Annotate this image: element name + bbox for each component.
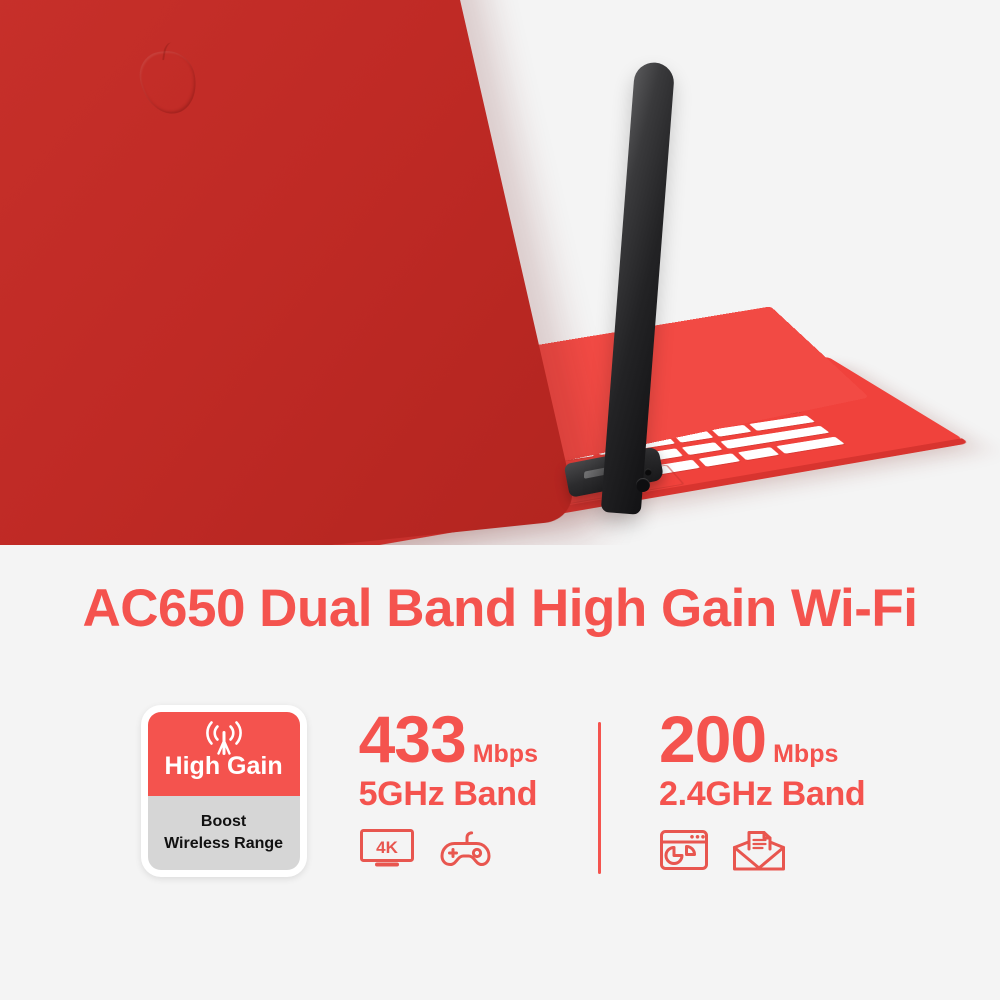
- spec-rate-5ghz: 433 Mbps: [359, 708, 538, 771]
- badge-subtitle-line1: Boost: [201, 811, 246, 833]
- page-title: AC650 Dual Band High Gain Wi-Fi: [0, 578, 1000, 639]
- gamepad-icon: [437, 827, 495, 871]
- adapter-led-icon: [644, 468, 652, 476]
- laptop-lid: [0, 0, 579, 545]
- spec-unit: Mbps: [773, 740, 838, 769]
- envelope-mail-icon: [731, 827, 787, 873]
- key: [698, 453, 740, 467]
- high-gain-badge: High Gain Boost Wireless Range: [141, 705, 307, 877]
- key: [682, 442, 723, 455]
- spec-unit: Mbps: [473, 740, 538, 769]
- feature-strip: High Gain Boost Wireless Range 433 Mbps …: [0, 700, 1000, 900]
- tv-4k-icon: 4K: [359, 828, 415, 870]
- badge-bottom-section: Boost Wireless Range: [148, 796, 300, 870]
- spec-use-case-icons: 4K: [359, 827, 495, 871]
- key: [737, 447, 779, 460]
- badge-title: High Gain: [165, 754, 283, 779]
- svg-text:4K: 4K: [376, 838, 398, 857]
- spec-band-label: 5GHz Band: [359, 775, 538, 814]
- browser-chart-icon: [659, 828, 709, 872]
- spec-band-label: 2.4GHz Band: [659, 775, 865, 814]
- spec-use-case-icons: [659, 827, 787, 873]
- spec-band-2-4ghz: 200 Mbps 2.4GHz Band: [659, 708, 865, 873]
- spec-band-5ghz: 433 Mbps 5GHz Band 4K: [359, 708, 538, 871]
- product-marketing-page: AC650 Dual Band High Gain Wi-Fi High Gai…: [0, 0, 1000, 1000]
- hero-product-image: [0, 0, 1000, 545]
- badge-top-section: High Gain: [148, 712, 300, 796]
- spec-number: 200: [659, 708, 766, 771]
- badge-subtitle-line2: Wireless Range: [164, 833, 283, 855]
- spec-rate-2-4ghz: 200 Mbps: [659, 708, 838, 771]
- spec-number: 433: [359, 708, 466, 771]
- spec-divider: [598, 722, 601, 874]
- laptop-logo-emboss: [135, 49, 201, 116]
